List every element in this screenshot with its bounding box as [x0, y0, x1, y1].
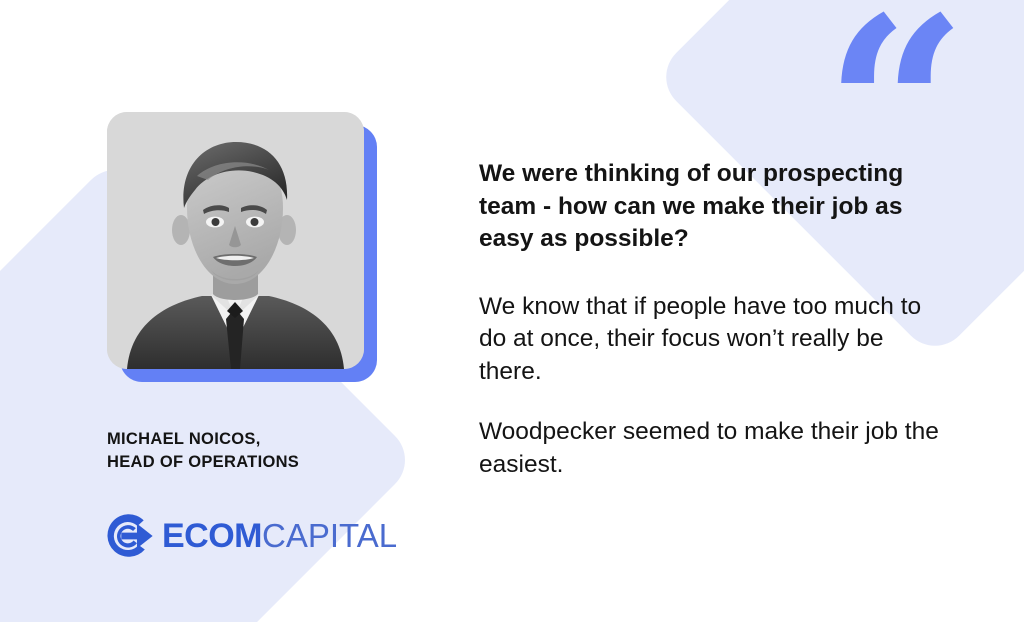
logo-word-secondary: CAPITAL	[262, 519, 397, 552]
logo-word-primary: ECOM	[162, 519, 262, 553]
quote-paragraph-3: Woodpecker seemed to make their job the …	[479, 416, 949, 481]
portrait-frame	[107, 112, 377, 382]
logo-wordmark: ECOM CAPITAL	[162, 519, 397, 553]
avatar	[107, 112, 364, 369]
quote-paragraph-1: We were thinking of our prospecting team…	[479, 158, 949, 256]
quote-paragraph-2: We know that if people have too much to …	[479, 291, 949, 389]
testimonial-card: “	[0, 0, 1024, 622]
author-name: MICHAEL NOICOS,	[107, 428, 437, 451]
ecom-capital-circle-arrow-icon	[100, 508, 156, 564]
attribution: MICHAEL NOICOS, HEAD OF OPERATIONS	[107, 428, 437, 475]
company-logo: ECOM CAPITAL	[100, 508, 397, 564]
quote-text: We were thinking of our prospecting team…	[479, 158, 949, 482]
author-role: HEAD OF OPERATIONS	[107, 451, 437, 474]
